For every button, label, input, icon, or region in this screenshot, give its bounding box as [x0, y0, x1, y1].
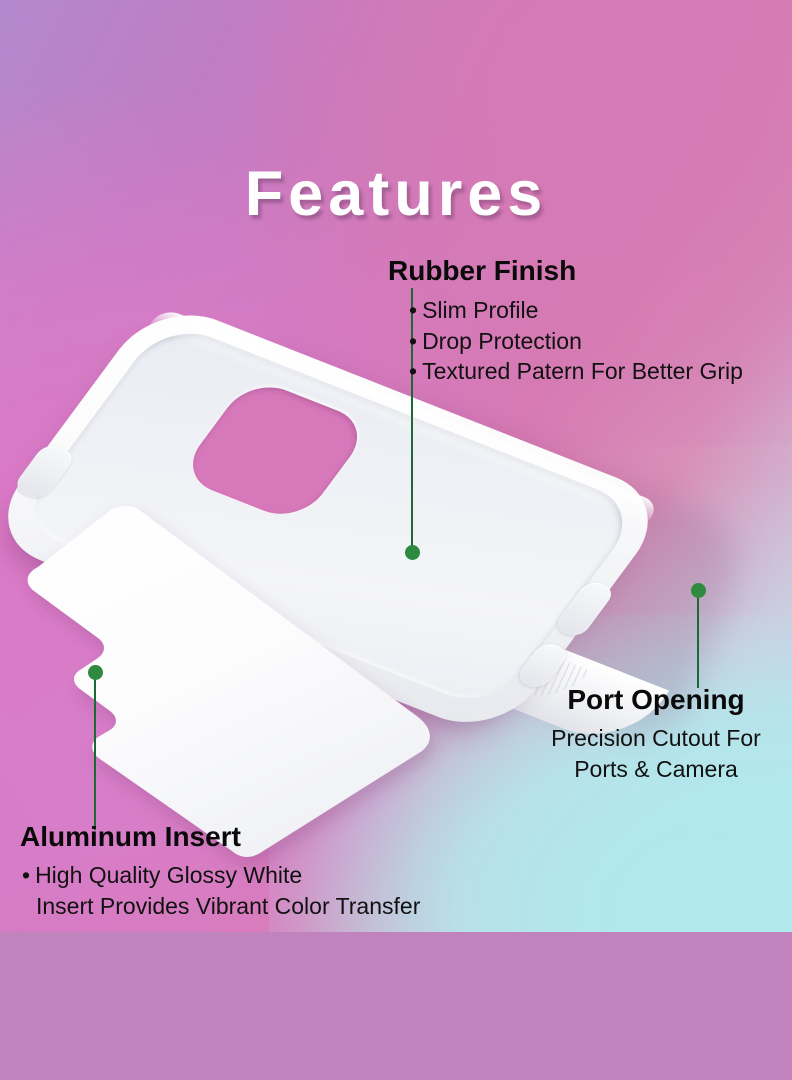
callout-heading-port-opening: Port Opening	[520, 685, 792, 714]
callout-heading-aluminum-insert: Aluminum Insert	[20, 822, 241, 851]
callout-list-aluminum-insert: High Quality Glossy White Insert Provide…	[22, 860, 420, 921]
list-item: High Quality Glossy White	[22, 860, 420, 891]
callout-line: Ports & Camera	[520, 754, 792, 785]
page-title: Features	[0, 163, 792, 226]
leader-line-port-opening	[697, 590, 699, 688]
callout-line: Precision Cutout For	[520, 723, 792, 754]
callout-text-port-opening: Precision Cutout For Ports & Camera	[520, 723, 792, 784]
list-item: Slim Profile	[409, 295, 743, 326]
leader-dot-rubber-finish	[405, 545, 420, 560]
callout-heading-rubber-finish: Rubber Finish	[388, 256, 576, 285]
list-item-continuation: Insert Provides Vibrant Color Transfer	[22, 891, 420, 922]
infographic-page: Features Rubber Finish Slim Profile Drop…	[0, 0, 792, 1080]
bottom-color-band	[0, 932, 792, 1080]
leader-line-aluminum-insert	[94, 672, 96, 830]
list-item: Textured Patern For Better Grip	[409, 356, 743, 387]
leader-dot-aluminum-insert	[88, 665, 103, 680]
artwork-area	[0, 0, 792, 932]
callout-list-rubber-finish: Slim Profile Drop Protection Textured Pa…	[409, 295, 743, 387]
list-item: Drop Protection	[409, 326, 743, 357]
leader-dot-port-opening	[691, 583, 706, 598]
insert-plate-path	[28, 506, 430, 857]
